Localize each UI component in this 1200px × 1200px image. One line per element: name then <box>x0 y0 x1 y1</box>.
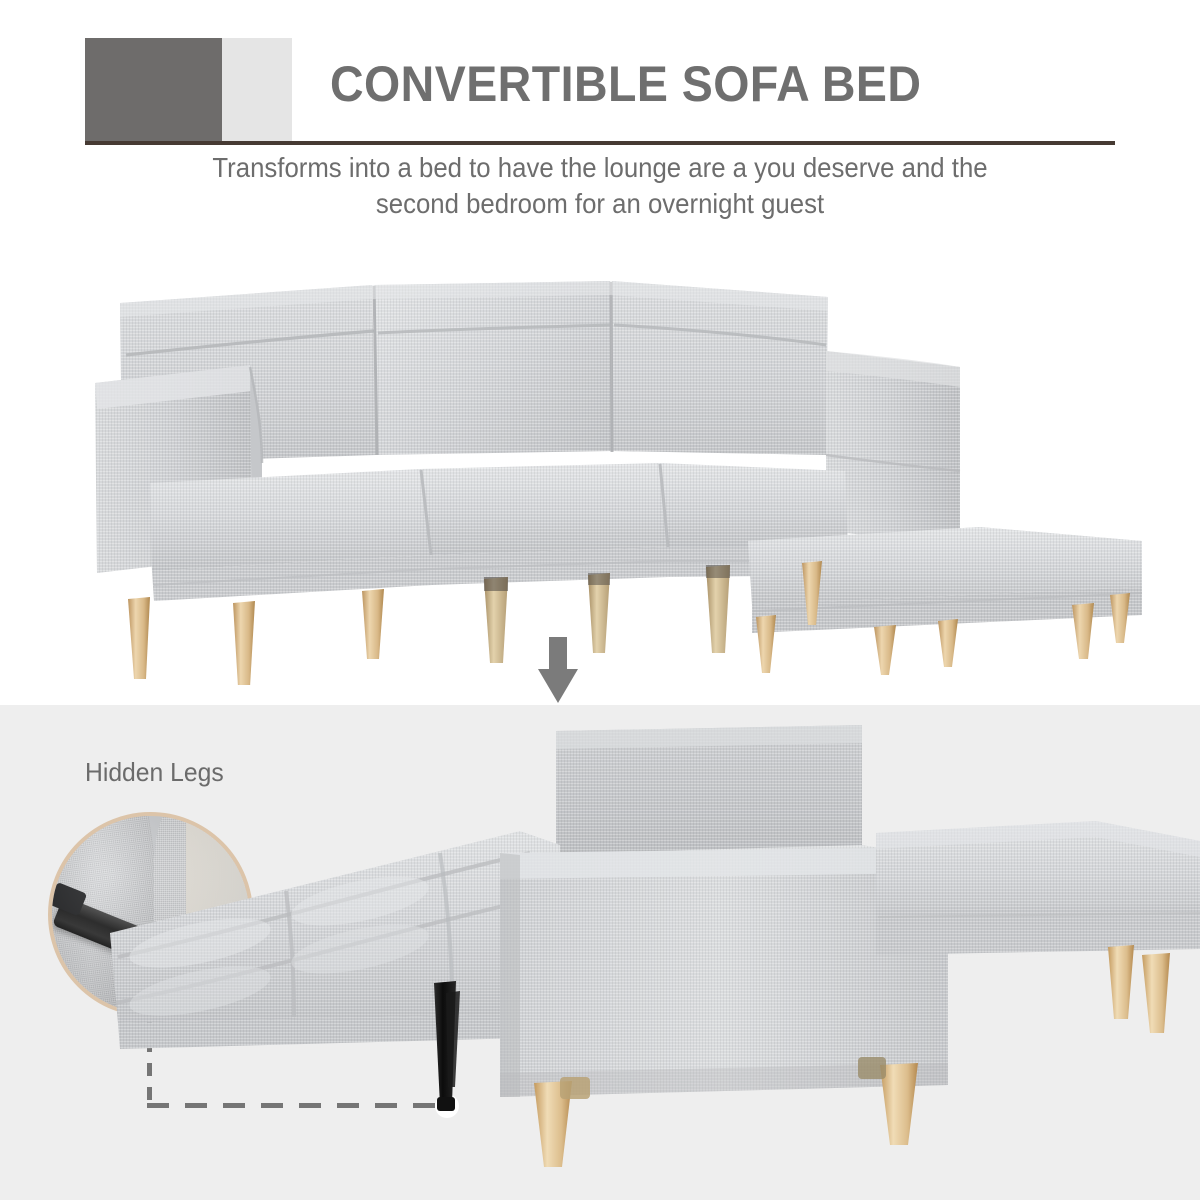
infographic-page: CONVERTIBLE SOFA BED Transforms into a b… <box>0 0 1200 1200</box>
page-title: CONVERTIBLE SOFA BED <box>330 49 925 119</box>
header-accent-block-dark <box>85 38 222 143</box>
top-panel: CONVERTIBLE SOFA BED Transforms into a b… <box>0 0 1200 705</box>
bed-ottoman <box>876 821 1200 955</box>
header-accent-block-light <box>222 38 292 143</box>
page-subtitle: Transforms into a bed to have the lounge… <box>186 150 1014 222</box>
bed-tufted-mattress <box>110 831 560 1049</box>
sofa-bed-flat-illustration <box>0 705 1200 1200</box>
sofa-upright-illustration <box>0 255 1200 685</box>
arrow-down-icon <box>536 637 580 705</box>
header-divider-rule <box>85 141 1115 145</box>
